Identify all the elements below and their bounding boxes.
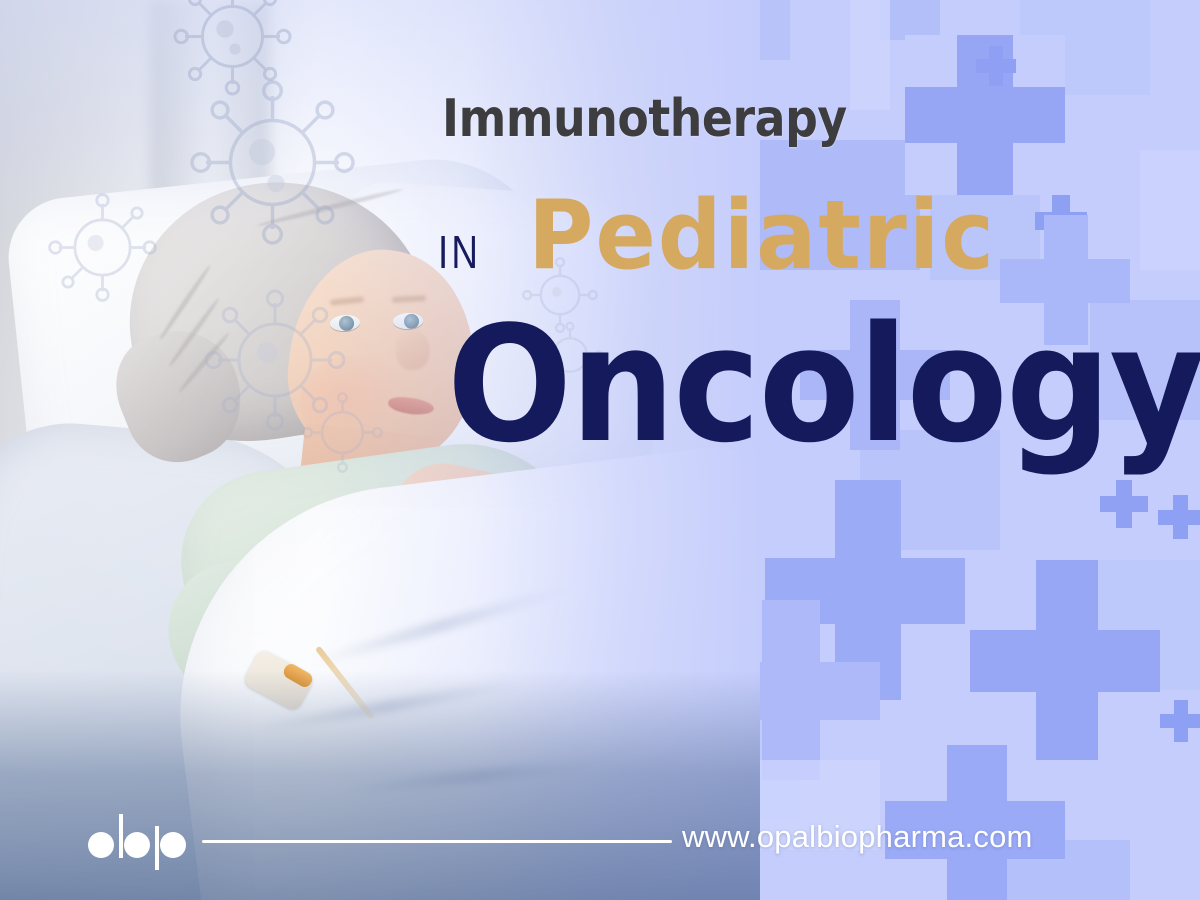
virus-outline-icon (185, 75, 360, 250)
medical-cross-icon (976, 46, 1016, 86)
logo-bar (119, 814, 123, 858)
pattern-square (1140, 150, 1200, 270)
logo-bar (155, 826, 159, 870)
opal-biopharma-logo[interactable] (88, 822, 186, 868)
headline-line-3: Oncology (447, 305, 1200, 465)
medical-cross-icon (1100, 480, 1148, 528)
headline-connector: IN (438, 229, 481, 275)
promotional-banner: Immunotherapy IN Pediatric Oncology www.… (0, 0, 1200, 900)
headline-line-2: Pediatric (528, 189, 996, 284)
logo-circle (88, 832, 114, 858)
footer-divider-rule (202, 840, 672, 843)
logo-circle (160, 832, 186, 858)
virus-outline-icon (300, 390, 385, 475)
virus-outline-icon (45, 190, 160, 305)
headline-line-1: Immunotherapy (442, 93, 847, 145)
pattern-square (850, 0, 890, 110)
logo-circle (124, 832, 150, 858)
medical-cross-icon (1160, 700, 1200, 742)
medical-cross-icon (970, 560, 1160, 760)
medical-cross-icon (1158, 495, 1200, 539)
website-url[interactable]: www.opalbiopharma.com (682, 818, 1033, 855)
